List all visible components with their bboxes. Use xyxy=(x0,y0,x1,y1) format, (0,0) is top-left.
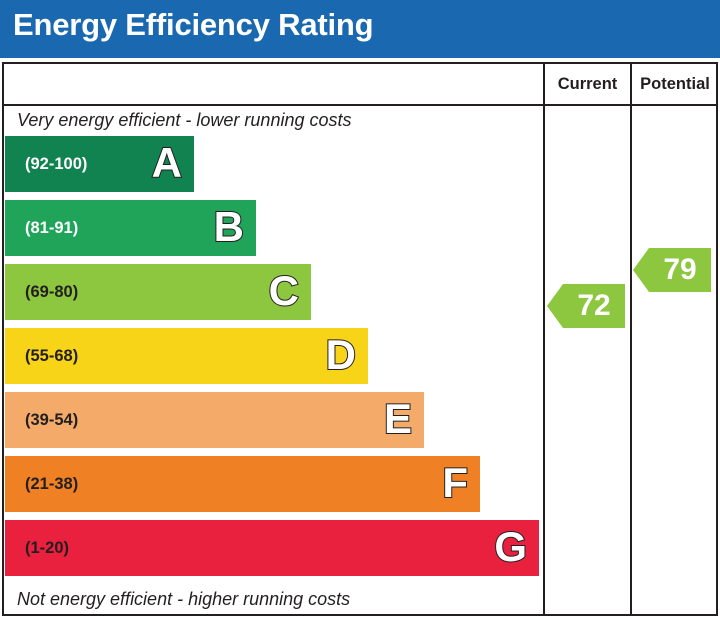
band-c-letter: C xyxy=(269,264,299,320)
band-f-letter: F xyxy=(442,456,468,512)
band-g-range: (1-20) xyxy=(25,520,69,576)
band-e-letter: E xyxy=(384,392,412,448)
column-divider-current xyxy=(543,62,545,616)
column-header-current: Current xyxy=(545,72,630,96)
column-header-potential: Potential xyxy=(632,72,718,96)
band-g: (1-20) G xyxy=(5,520,539,576)
band-f-range: (21-38) xyxy=(25,456,78,512)
current-rating-value: 72 xyxy=(563,284,625,328)
band-a: (92-100) A xyxy=(5,136,194,192)
current-rating-badge: 72 xyxy=(547,284,625,328)
band-f: (21-38) F xyxy=(5,456,480,512)
header-divider xyxy=(2,104,718,106)
potential-rating-value: 79 xyxy=(649,248,711,292)
band-d: (55-68) D xyxy=(5,328,368,384)
energy-efficiency-rating-chart: Energy Efficiency Rating Current Potenti… xyxy=(0,0,720,618)
column-divider-potential xyxy=(630,62,632,616)
caption-not-efficient: Not energy efficient - higher running co… xyxy=(17,589,350,610)
band-d-letter: D xyxy=(326,328,356,384)
band-b-letter: B xyxy=(214,200,244,256)
caption-very-efficient: Very energy efficient - lower running co… xyxy=(17,110,352,131)
band-a-letter: A xyxy=(152,136,182,192)
potential-rating-badge: 79 xyxy=(633,248,711,292)
band-c: (69-80) C xyxy=(5,264,311,320)
band-b-range: (81-91) xyxy=(25,200,78,256)
band-g-letter: G xyxy=(494,520,527,576)
band-e-range: (39-54) xyxy=(25,392,78,448)
band-a-range: (92-100) xyxy=(25,136,87,192)
page-title: Energy Efficiency Rating xyxy=(13,7,373,43)
band-c-range: (69-80) xyxy=(25,264,78,320)
band-b: (81-91) B xyxy=(5,200,256,256)
band-e: (39-54) E xyxy=(5,392,424,448)
title-bar: Energy Efficiency Rating xyxy=(0,0,720,58)
band-d-range: (55-68) xyxy=(25,328,78,384)
